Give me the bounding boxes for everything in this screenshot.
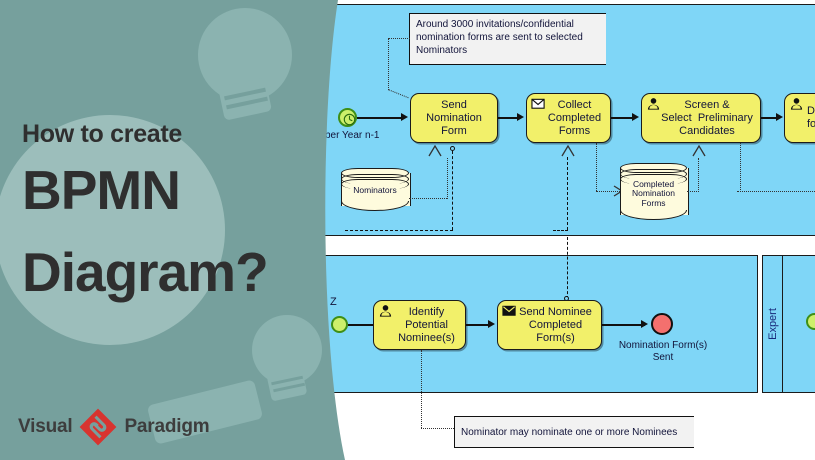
sequence-flow-1-arrow (401, 113, 408, 121)
start-event-timer[interactable] (338, 108, 357, 127)
task-screen-select-preliminary-candidates[interactable]: Screen &Select PreliminaryCandidates (641, 93, 761, 143)
message-flow-h1 (345, 230, 453, 231)
assoc-right-v (740, 143, 741, 192)
note-connector-h (388, 38, 410, 39)
message-flow-v2 (567, 157, 568, 230)
assoc-store-task3-v (698, 158, 699, 192)
data-store-completed-nomination-forms[interactable]: CompletedNominationForms (620, 163, 687, 220)
note-rule-connector-v (421, 350, 422, 428)
task-send-nominee-completed-forms-label: Send NomineeCompletedForm(s) (507, 306, 592, 345)
sequence-flow-2-arrow (517, 113, 524, 121)
data-store-nominators-label: Nominators (341, 186, 409, 196)
message-flow-h2 (553, 230, 568, 231)
sequence-flow-3-arrow (632, 113, 639, 121)
pool-expert-lane-header: Expert (763, 256, 783, 392)
assoc-nominators-h (409, 198, 447, 199)
bpmn-diagram-canvas: Around 3000 invitations/confidential nom… (0, 0, 815, 460)
assoc-store-v (596, 143, 597, 191)
note-connector-v (388, 38, 389, 90)
sequence-flow-4-arrow (776, 113, 783, 121)
sequence-flow-5 (348, 324, 376, 326)
user-icon (378, 304, 393, 318)
sequence-flow-6-arrow (488, 320, 495, 328)
note-rule-connector-h (421, 428, 454, 429)
start-event-nominator[interactable] (331, 316, 348, 333)
pool-expert-label: Expert (767, 308, 779, 340)
task-identify-potential-nominees[interactable]: IdentifyPotentialNominee(s) (373, 300, 466, 350)
assoc-collect-arrow (561, 145, 575, 157)
assoc-store-task3-h (687, 191, 699, 192)
user-icon (789, 97, 804, 111)
message-flow-v3 (567, 237, 568, 299)
note-invitations: Around 3000 invitations/confidential nom… (409, 13, 606, 65)
task-decide-for-expert[interactable]: Defor Ex (784, 93, 815, 143)
sequence-flow-7 (602, 324, 645, 326)
task-screen-select-preliminary-candidates-label: Screen &Select PreliminaryCandidates (649, 99, 753, 138)
note-nominator-rule: Nominator may nominate one or more Nomin… (454, 416, 694, 448)
task-collect-completed-forms[interactable]: CollectCompletedForms (526, 93, 611, 143)
end-event-nomination-sent[interactable] (651, 313, 673, 335)
task-send-nomination-form[interactable]: SendNominationForm (410, 93, 498, 143)
sequence-flow-7-arrow (641, 320, 648, 328)
end-event-nomination-sent-label: Nomination Form(s) Sent (612, 340, 714, 364)
screenshot-root: Around 3000 invitations/confidential nom… (0, 0, 815, 460)
sequence-flow-1 (357, 117, 404, 119)
envelope-icon (531, 97, 546, 111)
user-icon (646, 97, 661, 111)
start-event-timer-label: ber Year n-1 (325, 130, 405, 142)
timer-icon (340, 110, 359, 129)
message-flow-v1 (452, 151, 453, 230)
assoc-nominators-v (447, 158, 448, 199)
data-store-nominators[interactable]: Nominators (341, 168, 409, 211)
envelope-filled-icon (502, 304, 517, 318)
assoc-store-task3-arrow (692, 145, 706, 157)
assoc-nominators-arrow (428, 145, 442, 157)
assoc-right-h2 (737, 191, 815, 192)
task-send-nominee-completed-forms[interactable]: Send NomineeCompletedForm(s) (497, 300, 602, 350)
data-store-completed-nomination-forms-label: CompletedNominationForms (620, 180, 687, 209)
task-send-nomination-form-label: SendNominationForm (426, 99, 482, 138)
task-identify-potential-nominees-label: IdentifyPotentialNominee(s) (384, 306, 455, 345)
start-event-nominator-label: Z (330, 296, 350, 308)
